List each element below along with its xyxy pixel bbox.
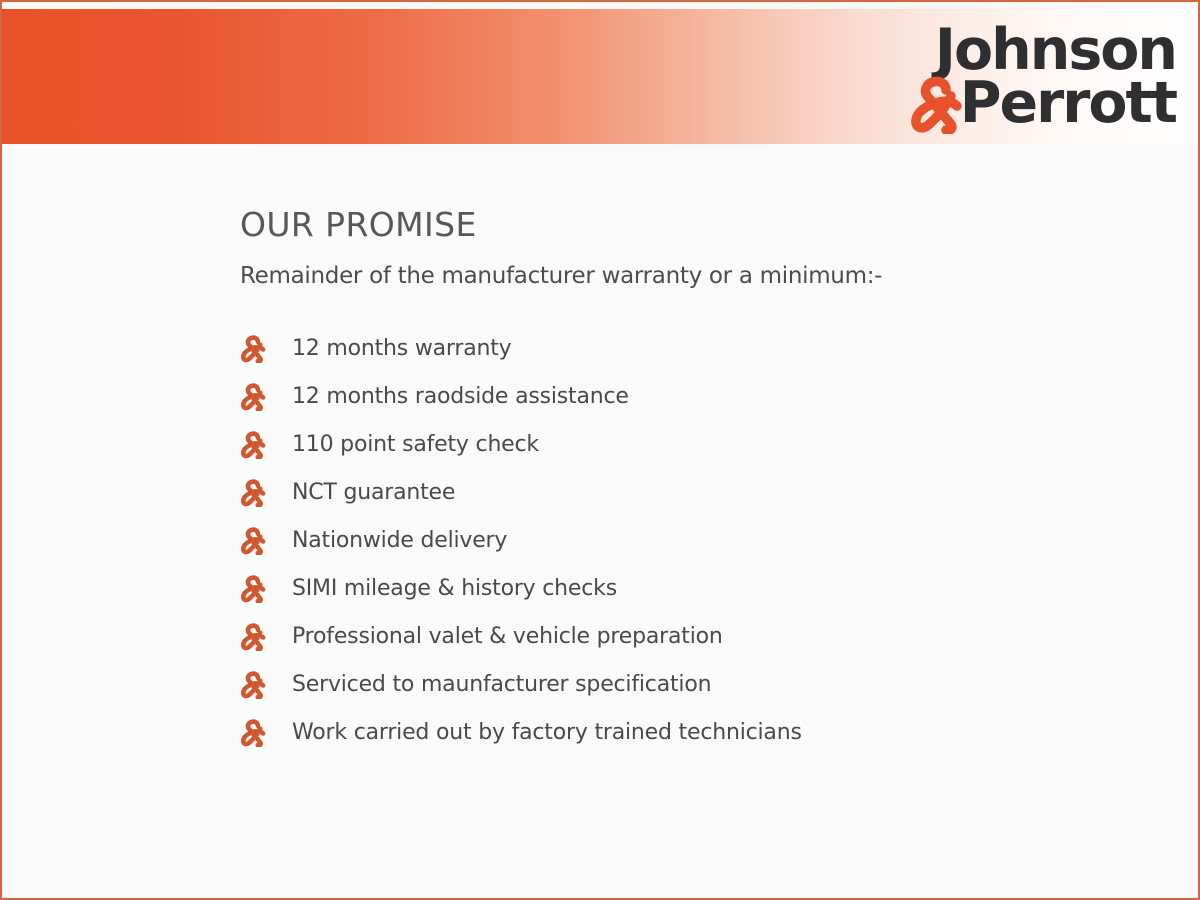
list-item: 110 point safety check <box>240 421 1158 469</box>
ampersand-icon <box>240 527 266 555</box>
list-item-label: 110 point safety check <box>292 434 539 456</box>
list-item: 12 months warranty <box>240 325 1158 373</box>
list-item: Professional valet & vehicle preparation <box>240 613 1158 661</box>
logo-line-2: Perrott <box>910 76 1176 130</box>
list-item-label: Professional valet & vehicle preparation <box>292 626 723 648</box>
ampersand-icon <box>240 575 266 603</box>
page-subtitle: Remainder of the manufacturer warranty o… <box>240 263 1158 291</box>
list-item: Serviced to maunfacturer specification <box>240 661 1158 709</box>
ampersand-icon <box>910 76 962 134</box>
list-item: SIMI mileage & history checks <box>240 565 1158 613</box>
list-item-label: Work carried out by factory trained tech… <box>292 722 802 744</box>
ampersand-icon <box>240 431 266 459</box>
brand-logo: Johnson Perrott <box>906 16 1176 138</box>
list-item-label: Nationwide delivery <box>292 530 507 552</box>
promise-page: Johnson Perrott OUR PROMISE Remainder of… <box>0 0 1200 900</box>
ampersand-icon <box>240 671 266 699</box>
ampersand-icon <box>240 623 266 651</box>
logo-line-1: Johnson <box>935 24 1176 76</box>
list-item-label: Serviced to maunfacturer specification <box>292 674 711 696</box>
ampersand-icon <box>240 383 266 411</box>
list-item: Work carried out by factory trained tech… <box>240 709 1158 757</box>
list-item-label: NCT guarantee <box>292 482 455 504</box>
top-strip <box>2 2 1198 9</box>
list-item-label: 12 months warranty <box>292 338 512 360</box>
ampersand-icon <box>240 479 266 507</box>
ampersand-icon <box>240 719 266 747</box>
list-item: 12 months raodside assistance <box>240 373 1158 421</box>
promise-content: OUR PROMISE Remainder of the manufacture… <box>240 207 1158 757</box>
logo-word-johnson: Johnson <box>935 24 1176 76</box>
promise-list: 12 months warranty 12 months raodside as… <box>240 325 1158 757</box>
list-item-label: 12 months raodside assistance <box>292 386 629 408</box>
ampersand-icon <box>240 335 266 363</box>
logo-word-perrott: Perrott <box>960 77 1176 129</box>
list-item: NCT guarantee <box>240 469 1158 517</box>
page-title: OUR PROMISE <box>240 207 1158 243</box>
list-item-label: SIMI mileage & history checks <box>292 578 617 600</box>
list-item: Nationwide delivery <box>240 517 1158 565</box>
